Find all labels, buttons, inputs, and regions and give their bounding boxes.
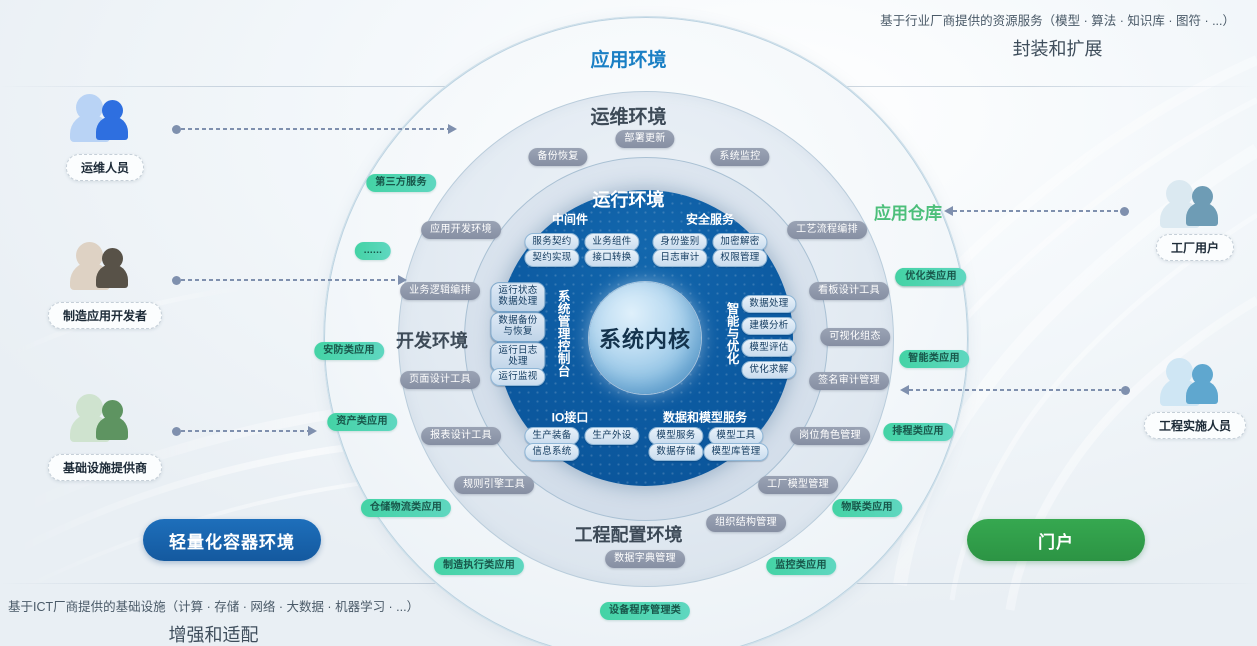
caption-main: 增强和适配 <box>8 621 419 646</box>
portal-button[interactable]: 门户 <box>967 519 1145 561</box>
runtime-group-intelligence-title: 智能与优化 <box>724 302 737 365</box>
runtime-group-data-model-title: 数据和模型服务 <box>663 409 747 426</box>
runtime-group-data-model-item[interactable]: 模型库管理 <box>703 443 768 461</box>
pill-label: 建模分析 <box>749 321 788 331</box>
connector-infra-to-platform <box>172 426 317 436</box>
app-category-pill[interactable]: 第三方服务 <box>366 174 436 192</box>
pill-label: 组织结构管理 <box>715 518 777 528</box>
actor-infra-provider[interactable]: 基础设施提供商 <box>70 392 140 448</box>
dev-tool-pill[interactable]: 页面设计工具 <box>400 371 480 389</box>
pill-label: 制造执行类应用 <box>443 561 515 571</box>
actor-label: 基础设施提供商 <box>48 454 162 481</box>
pill-label: 资产类应用 <box>336 417 388 427</box>
people-icon <box>1160 356 1230 412</box>
actor-app-developer[interactable]: 制造应用开发者 <box>70 240 140 296</box>
pill-label: 物联类应用 <box>841 503 893 513</box>
runtime-group-middleware-title: 中间件 <box>552 211 588 228</box>
people-icon <box>70 392 140 448</box>
runtime-group-intelligence-item[interactable]: 模型评估 <box>741 339 796 357</box>
actor-label: 运维人员 <box>66 154 144 181</box>
title-application-store: 应用仓库 <box>874 199 942 224</box>
actor-label: 工厂用户 <box>1156 234 1234 261</box>
app-category-pill[interactable]: 排程类应用 <box>883 423 953 441</box>
ops-tool-pill[interactable]: 系统监控 <box>710 148 769 166</box>
runtime-group-io-title: IO接口 <box>552 409 589 426</box>
connector-factory-user-to-app-store <box>944 206 1129 216</box>
cta-label: 门户 <box>1038 528 1074 553</box>
title-development-environment: 开发环境 <box>396 327 468 353</box>
pill-label: 模型库管理 <box>711 447 760 457</box>
cta-label: 轻量化容器环境 <box>169 528 295 553</box>
config-tool-pill[interactable]: 签名审计管理 <box>809 372 889 390</box>
actor-ops-staff[interactable]: 运维人员 <box>70 92 140 148</box>
pill-label: 岗位角色管理 <box>799 431 861 441</box>
pill-label: 数据处理 <box>749 299 788 309</box>
pill-label: 智能类应用 <box>908 354 960 364</box>
pill-label: 规则引擎工具 <box>463 480 525 490</box>
runtime-group-intelligence-item[interactable]: 建模分析 <box>741 317 796 335</box>
people-icon <box>70 92 140 148</box>
pill-label: 数据存储 <box>656 447 695 457</box>
people-icon <box>70 240 140 296</box>
pill-label: 仓储物流类应用 <box>370 503 442 513</box>
pill-label: 契约实现 <box>532 253 571 263</box>
config-tool-pill[interactable]: 可视化组态 <box>820 328 890 346</box>
caption-sub: 基于行业厂商提供的资源服务（模型 · 算法 · 知识库 · 图符 · ...） <box>880 10 1235 29</box>
config-tool-pill[interactable]: 工艺流程编排 <box>787 221 867 239</box>
pill-label: 报表设计工具 <box>430 431 492 441</box>
runtime-group-security-item[interactable]: 权限管理 <box>712 249 767 267</box>
pill-label: 可视化组态 <box>829 332 881 342</box>
runtime-group-console-item[interactable]: 运行状态 数据处理 <box>490 282 545 312</box>
pill-label: 运行日志 处理 <box>498 346 537 368</box>
pill-label: 运行监视 <box>498 372 537 382</box>
pill-label: 业务组件 <box>592 237 631 247</box>
pill-label: 工厂模型管理 <box>767 480 829 490</box>
pill-label: 页面设计工具 <box>409 375 471 385</box>
pill-label: 优化求解 <box>749 365 788 375</box>
app-category-pill[interactable]: 优化类应用 <box>896 268 966 286</box>
dev-tool-pill[interactable]: 报表设计工具 <box>421 427 501 445</box>
system-kernel-label: 系统内核 <box>589 282 701 394</box>
app-category-pill[interactable]: 物联类应用 <box>832 499 902 517</box>
config-tool-pill[interactable]: 岗位角色管理 <box>790 427 870 445</box>
actor-factory-user[interactable]: 工厂用户 <box>1160 178 1230 234</box>
pill-label: 生产装备 <box>532 431 571 441</box>
actor-label: 制造应用开发者 <box>48 302 162 329</box>
runtime-group-console-item[interactable]: 运行监视 <box>490 368 545 386</box>
pill-label: 生产外设 <box>592 431 631 441</box>
pill-label: 运行状态 数据处理 <box>498 286 537 308</box>
pill-label: 信息系统 <box>532 447 571 457</box>
runtime-group-console-title: 系统管理控制台 <box>555 289 568 377</box>
caption-main: 封装和扩展 <box>880 35 1235 61</box>
app-category-pill[interactable]: 智能类应用 <box>899 350 969 368</box>
app-category-pill[interactable]: 监控类应用 <box>766 557 836 575</box>
ops-tool-pill[interactable]: 备份恢复 <box>528 148 587 166</box>
pill-label: 第三方服务 <box>375 178 427 188</box>
app-category-pill[interactable]: 资产类应用 <box>327 413 397 431</box>
config-tool-pill[interactable]: 看板设计工具 <box>809 282 889 300</box>
pill-label: 数据字典管理 <box>614 554 676 564</box>
pill-label: 模型评估 <box>749 343 788 353</box>
pill-label: 模型服务 <box>656 431 695 441</box>
runtime-group-io-item[interactable]: 生产外设 <box>584 427 639 445</box>
pill-label: 看板设计工具 <box>818 286 880 296</box>
runtime-group-middleware-item[interactable]: 契约实现 <box>524 249 579 267</box>
caption-bottom-left: 基于ICT厂商提供的基础设施（计算 · 存储 · 网络 · 大数据 · 机器学习… <box>8 596 419 646</box>
runtime-group-data-model-item[interactable]: 数据存储 <box>648 443 703 461</box>
caption-sub: 基于ICT厂商提供的基础设施（计算 · 存储 · 网络 · 大数据 · 机器学习… <box>8 596 419 615</box>
dev-tool-pill[interactable]: 应用开发环境 <box>421 221 501 239</box>
runtime-group-security-title: 安全服务 <box>686 211 734 228</box>
pill-label: 身份鉴别 <box>660 237 699 247</box>
config-tool-pill[interactable]: 组织结构管理 <box>706 514 786 532</box>
actor-engineering-staff[interactable]: 工程实施人员 <box>1160 356 1230 412</box>
runtime-group-middleware-item[interactable]: 接口转换 <box>584 249 639 267</box>
pill-label: 监控类应用 <box>775 561 827 571</box>
connector-ops-staff-to-app-env <box>172 124 457 134</box>
system-kernel-core[interactable]: 系统内核 <box>589 282 701 394</box>
ops-tool-pill[interactable]: 部署更新 <box>615 130 674 148</box>
connector-engineering-to-dev-env <box>900 385 1130 395</box>
app-category-pill[interactable]: 仓储物流类应用 <box>361 499 451 517</box>
pill-label: 优化类应用 <box>905 272 957 282</box>
caption-top-right: 基于行业厂商提供的资源服务（模型 · 算法 · 知识库 · 图符 · ...） … <box>880 10 1235 61</box>
pill-label: 业务逻辑编排 <box>409 286 471 296</box>
pill-label: 加密解密 <box>720 237 759 247</box>
pill-label: 签名审计管理 <box>818 376 880 386</box>
pill-label: ...... <box>364 246 382 256</box>
pill-label: 排程类应用 <box>892 427 944 437</box>
runtime-group-intelligence-item[interactable]: 优化求解 <box>741 361 796 379</box>
pill-label: 备份恢复 <box>537 152 578 162</box>
connector-developer-to-dev-env <box>172 275 407 285</box>
pill-label: 工艺流程编排 <box>796 225 858 235</box>
runtime-group-console-item[interactable]: 数据备份 与恢复 <box>490 312 545 342</box>
dev-tool-pill[interactable]: 业务逻辑编排 <box>400 282 480 300</box>
dev-tool-pill[interactable]: 规则引擎工具 <box>454 476 534 494</box>
pill-label: 设备程序管理类 <box>609 606 681 616</box>
pill-label: 应用开发环境 <box>430 225 492 235</box>
pill-label: 部署更新 <box>624 134 665 144</box>
lightweight-container-button[interactable]: 轻量化容器环境 <box>143 519 321 561</box>
pill-label: 模型工具 <box>716 431 755 441</box>
app-category-pill[interactable]: 制造执行类应用 <box>434 557 524 575</box>
pill-label: 接口转换 <box>592 253 631 263</box>
runtime-group-security-item[interactable]: 日志审计 <box>652 249 707 267</box>
pill-label: 日志审计 <box>660 253 699 263</box>
pill-label: 服务契约 <box>532 237 571 247</box>
runtime-group-io-item[interactable]: 信息系统 <box>524 443 579 461</box>
config-tool-pill[interactable]: 数据字典管理 <box>605 550 685 568</box>
app-category-pill[interactable]: ...... <box>355 242 391 260</box>
pill-label: 系统监控 <box>719 152 760 162</box>
pill-label: 数据备份 与恢复 <box>498 316 537 338</box>
runtime-group-intelligence-item[interactable]: 数据处理 <box>741 295 796 313</box>
people-icon <box>1160 178 1230 234</box>
diagram-canvas: 系统内核 应用环境 运维环境 运行环境 开发环境 工程配置环境 应用仓库 备份恢… <box>0 0 1257 646</box>
actor-label: 工程实施人员 <box>1144 412 1246 439</box>
pill-label: 权限管理 <box>720 253 759 263</box>
app-category-pill[interactable]: 安防类应用 <box>314 342 384 360</box>
pill-label: 安防类应用 <box>323 346 375 356</box>
app-category-pill[interactable]: 设备程序管理类 <box>600 602 690 620</box>
config-tool-pill[interactable]: 工厂模型管理 <box>758 476 838 494</box>
